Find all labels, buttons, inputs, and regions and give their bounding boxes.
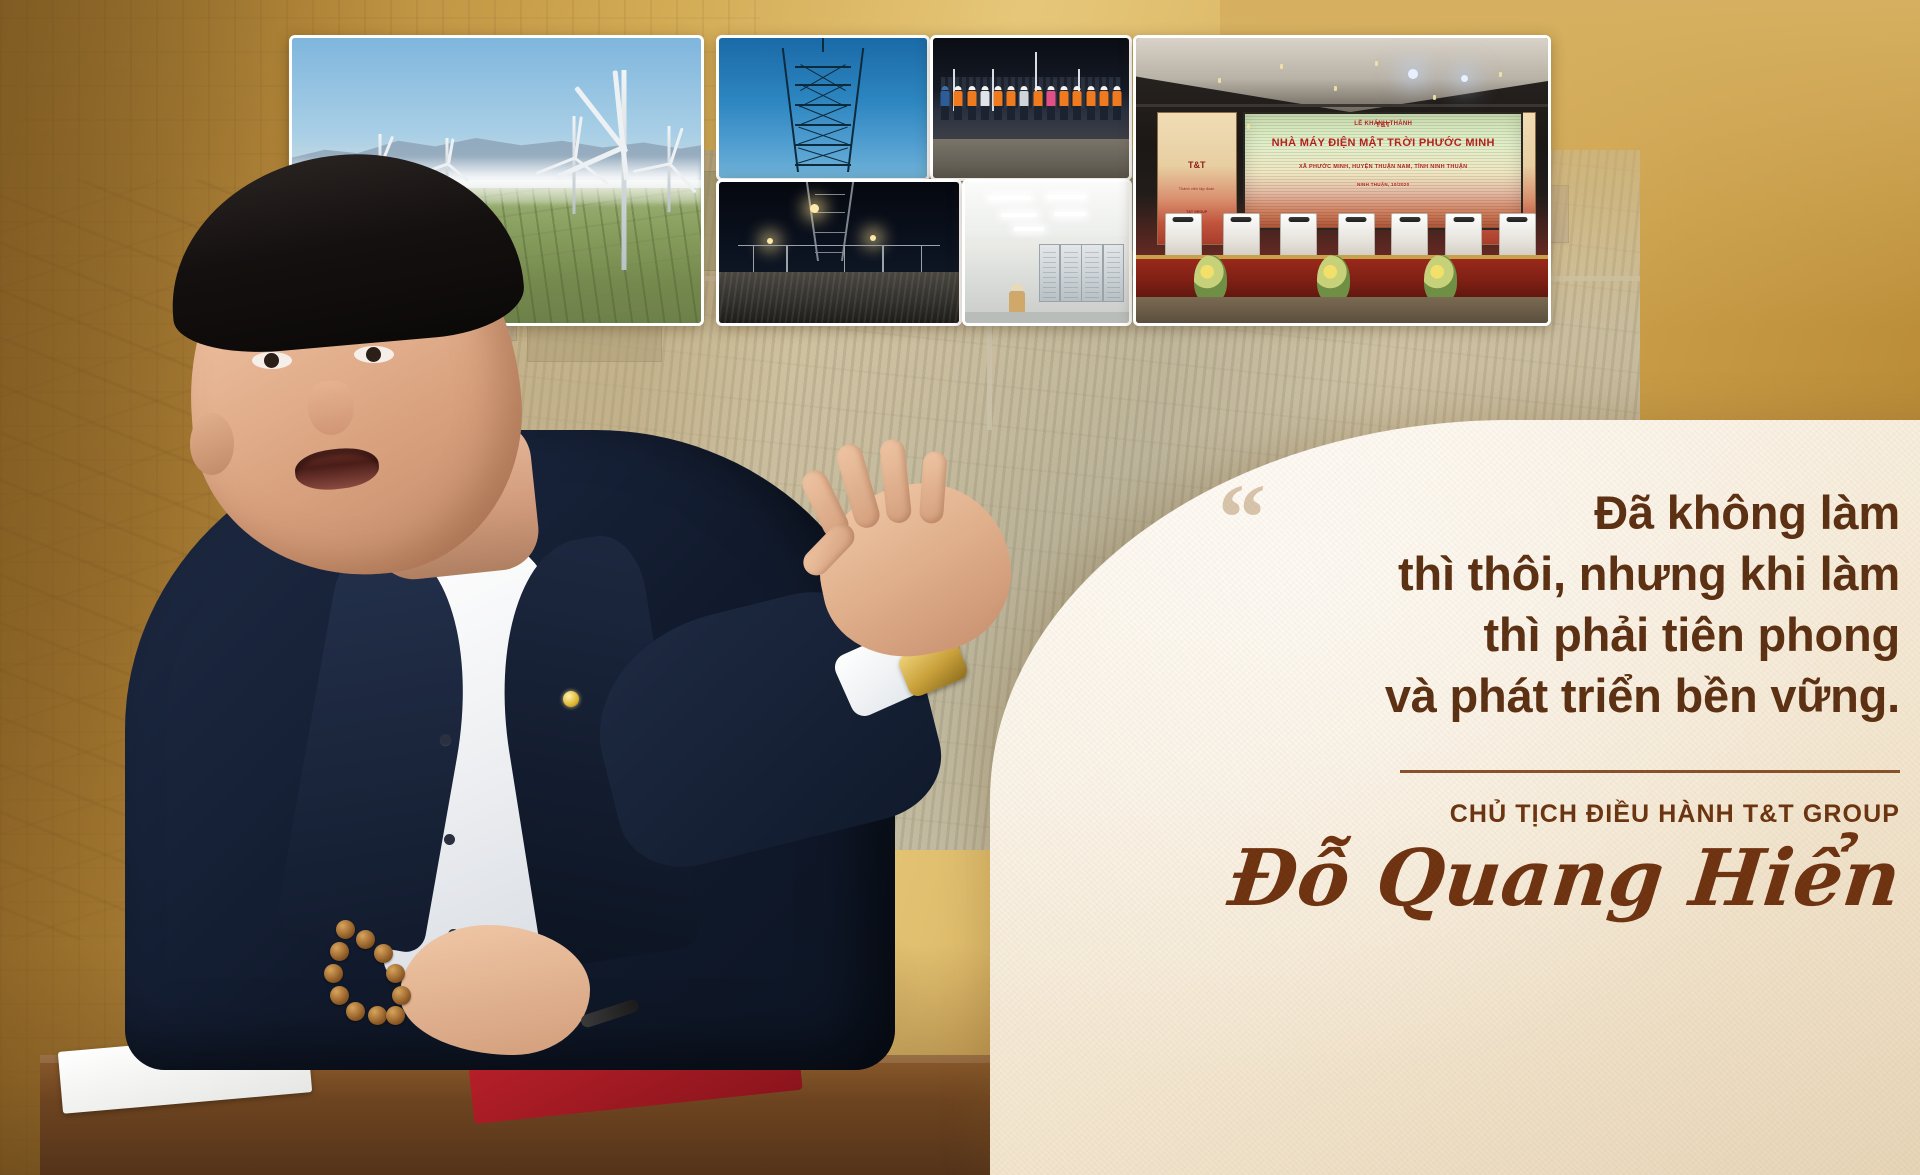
tt-logo-standee-left: T&T — [1158, 160, 1236, 170]
poster-canvas: T&T Thành viên tập đoàn T&T GROUP T&T Th… — [0, 0, 1920, 1175]
quote-line-4: và phát triển bền vững. — [1050, 665, 1900, 726]
eye-left — [252, 352, 292, 369]
attribution-role: CHỦ TỊCH ĐIỀU HÀNH T&T GROUP — [1050, 800, 1900, 829]
banner-line-2: NHÀ MÁY ĐIỆN MẬT TRỜI PHƯỚC MINH — [1245, 137, 1521, 149]
photo-group-workers — [930, 35, 1132, 181]
tt-logo-banner: T&T — [1376, 122, 1391, 129]
banner-line-1: LỄ KHÁNH THÀNH — [1245, 121, 1521, 127]
ear — [190, 413, 234, 475]
quote-card: “ Đã không làm thì thôi, nhưng khi làm t… — [990, 420, 1920, 1175]
photo-transmission-tower — [716, 35, 930, 181]
quote-line-2: thì thôi, nhưng khi làm — [1050, 543, 1900, 604]
lattice-tower-icon — [789, 48, 857, 172]
lapel-pin-icon — [563, 691, 579, 707]
quote-text: Đã không làm thì thôi, nhưng khi làm thì… — [1050, 482, 1900, 726]
eye-right — [354, 346, 394, 363]
portrait-do-quang-hien — [40, 175, 1020, 1175]
quote-line-3: thì phải tiên phong — [1050, 604, 1900, 665]
quote-line-1: Đã không làm — [1050, 482, 1900, 543]
banner-line-3: XÃ PHƯỚC MINH, HUYỆN THUẬN NAM, TỈNH NIN… — [1245, 164, 1521, 170]
nose — [308, 381, 354, 435]
attribution-name: Đỗ Quang Hiển — [1046, 840, 1904, 918]
divider — [1400, 770, 1900, 773]
photo-inauguration-ceremony: T&T Thành viên tập đoàn T&T GROUP T&T Th… — [1133, 35, 1551, 326]
